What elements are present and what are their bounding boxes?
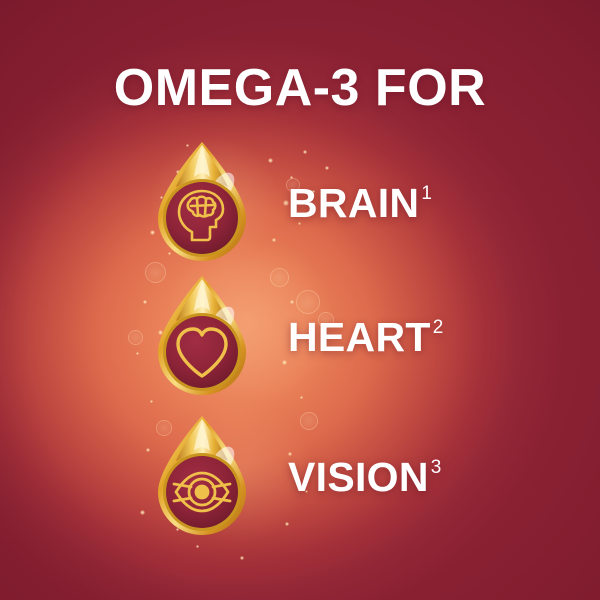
benefit-label-brain: BRAIN 1 [288, 183, 432, 224]
benefit-label-brain-text: BRAIN [288, 183, 419, 224]
benefit-label-vision: VISION 3 [288, 457, 442, 498]
benefit-label-heart: HEART 2 [288, 317, 444, 358]
droplet-brain [150, 139, 254, 267]
eye-icon [150, 413, 254, 541]
benefit-row-vision: VISION 3 [150, 412, 550, 542]
benefit-row-brain: BRAIN 1 [150, 138, 550, 268]
benefit-row-heart: HEART 2 [150, 272, 550, 402]
droplet-heart [150, 273, 254, 401]
heart-icon [150, 273, 254, 401]
benefit-label-vision-text: VISION [288, 457, 429, 498]
droplet-vision [150, 413, 254, 541]
benefit-footnote-heart: 2 [433, 318, 444, 337]
page-title: OMEGA-3 FOR [0, 62, 600, 114]
benefit-footnote-brain: 1 [421, 184, 432, 203]
benefit-label-heart-text: HEART [288, 317, 431, 358]
benefit-footnote-vision: 3 [431, 458, 442, 477]
brain-head-icon [150, 139, 254, 267]
omega3-benefits-poster: OMEGA-3 FOR [0, 0, 600, 600]
